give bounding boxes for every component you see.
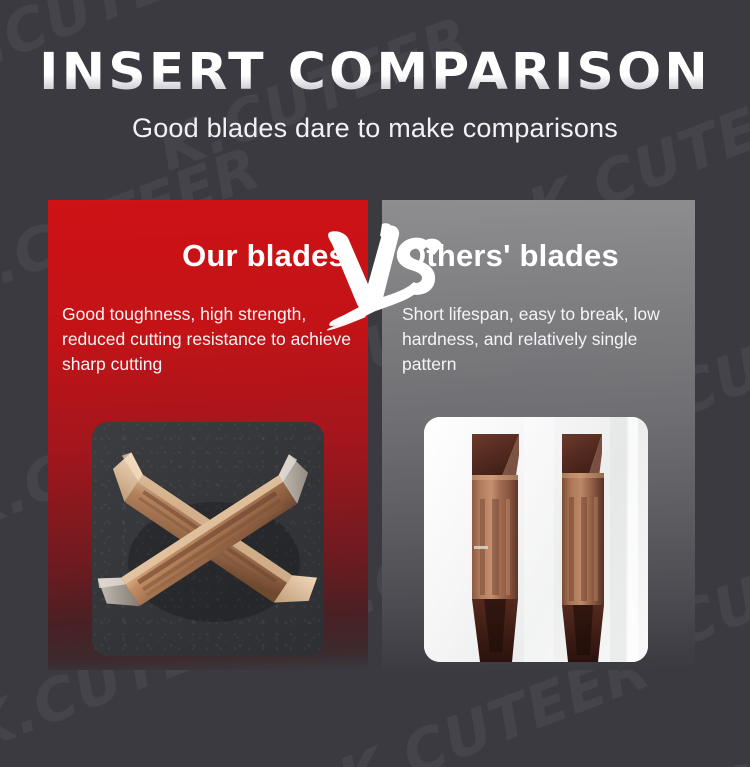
panel-others-blades: Others' blades Short lifespan, easy to b…	[382, 200, 695, 670]
page-subtitle: Good blades dare to make comparisons	[0, 113, 750, 144]
our-blades-heading: Our blades	[182, 238, 346, 274]
others-blades-description: Short lifespan, easy to break, low hardn…	[402, 302, 681, 377]
our-blades-photo-card	[92, 422, 324, 656]
header: INSERT COMPARISON Good blades dare to ma…	[0, 0, 750, 144]
panel-our-blades: Our blades Good toughness, high strength…	[48, 200, 368, 670]
others-blades-photo-card	[424, 417, 648, 662]
page-title: INSERT COMPARISON	[0, 47, 750, 98]
others-blades-heading: Others' blades	[402, 238, 619, 274]
comparison-poster: K.CUTEERK.CUTEERK.CUTEERK.CUTEERK.CUTEER…	[0, 0, 750, 767]
crossed-grooving-inserts-photo	[92, 422, 324, 656]
pair-of-inserts-photo	[424, 417, 648, 662]
our-blades-description: Good toughness, high strength, reduced c…	[62, 302, 358, 377]
